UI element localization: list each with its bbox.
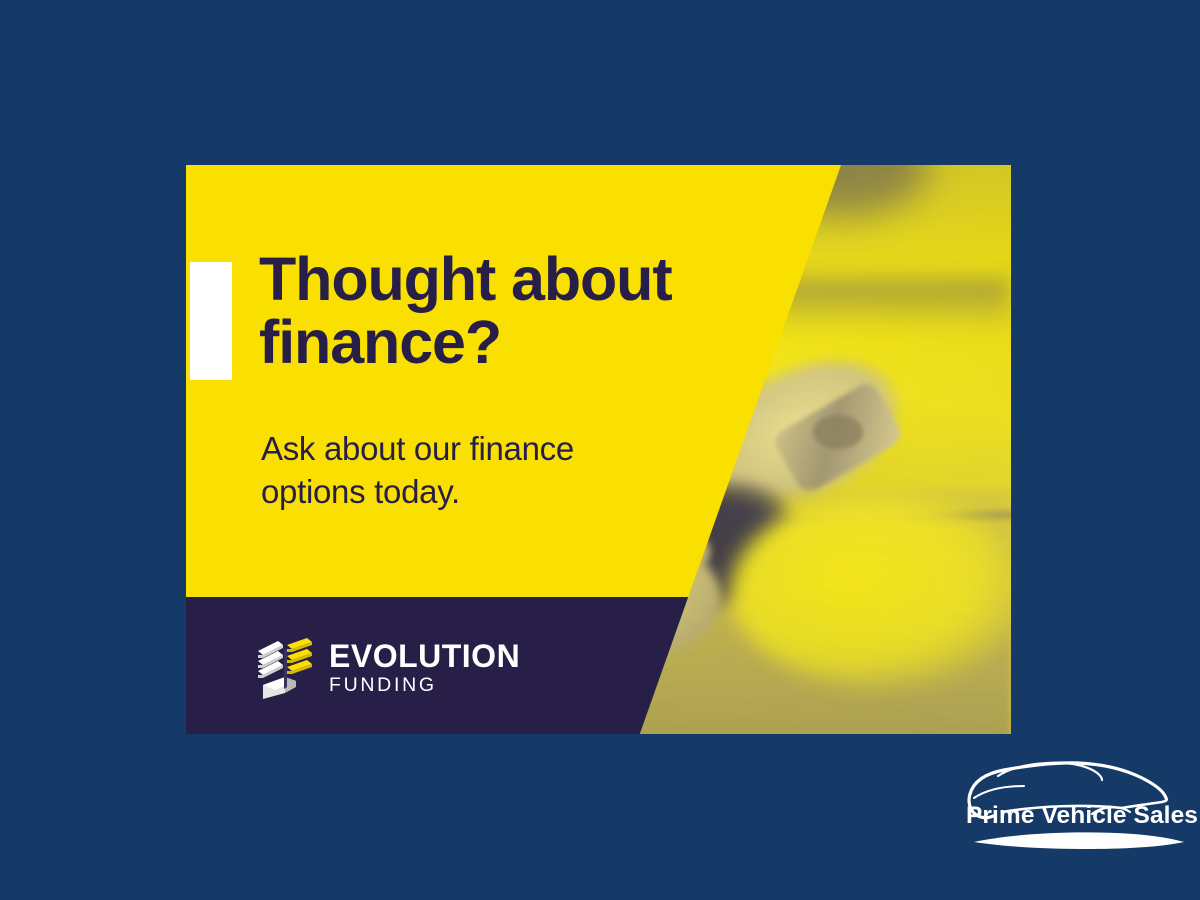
evolution-funding-logo[interactable]: EVOLUTION FUNDING [256, 635, 520, 701]
headline-line-1: Thought about [259, 248, 779, 311]
dealer-watermark[interactable]: Prime Vehicle Sales [952, 742, 1200, 860]
evolution-funding-wordmark: EVOLUTION FUNDING [329, 640, 520, 696]
white-accent-bar [190, 262, 232, 380]
photo-wristwatch-face [813, 415, 863, 449]
page-title: Thought about finance? [259, 248, 779, 374]
subheadline: Ask about our finance options today. [261, 428, 711, 513]
evolution-logo-subname: FUNDING [329, 676, 520, 696]
dealer-name-label: Prime Vehicle Sales [964, 802, 1200, 830]
sports-car-outline-icon [952, 742, 1200, 860]
subheadline-line-2: options today. [261, 471, 711, 514]
evolution-logo-name: EVOLUTION [329, 640, 520, 672]
subheadline-line-1: Ask about our finance [261, 428, 711, 471]
promo-canvas: Thought about finance? Ask about our fin… [0, 0, 1200, 900]
headline-line-2: finance? [259, 311, 779, 374]
finance-promo-card[interactable]: Thought about finance? Ask about our fin… [186, 165, 1011, 734]
evolution-funding-mark-icon [256, 635, 314, 701]
